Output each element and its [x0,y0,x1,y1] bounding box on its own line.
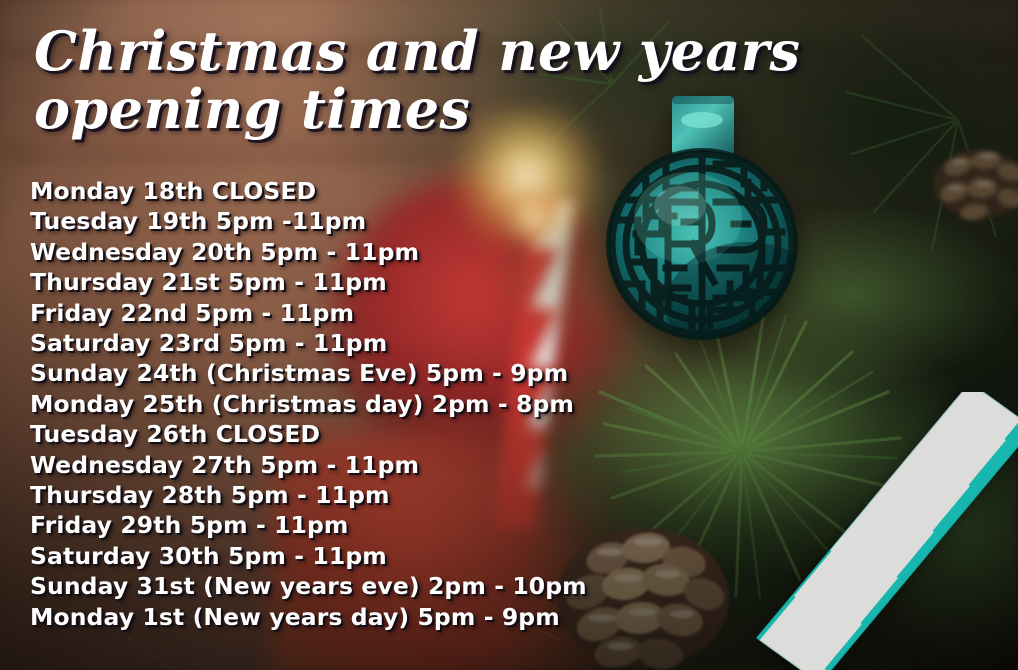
list-item: Thursday 21st 5pm - 11pm [30,267,587,297]
list-item: Monday 1st (New years day) 5pm - 9pm [30,602,587,632]
page-title-line-2: opening times [34,80,674,138]
page-title: Christmas and new years opening times [34,22,674,138]
list-item: Monday 18th CLOSED [30,176,587,206]
list-item: Wednesday 27th 5pm - 11pm [30,450,587,480]
list-item: Sunday 31st (New years eve) 2pm - 10pm [30,571,587,601]
christmas-opening-times-poster: Christmas and new years opening times Mo… [0,0,1018,670]
list-item: Wednesday 20th 5pm - 11pm [30,237,587,267]
poster-content: Christmas and new years opening times Mo… [0,0,1018,670]
opening-times-list: Monday 18th CLOSED Tuesday 19th 5pm -11p… [30,176,587,632]
list-item: Friday 22nd 5pm - 11pm [30,298,587,328]
list-item: Tuesday 26th CLOSED [30,419,587,449]
page-title-line-1: Christmas and new years [34,22,674,80]
list-item: Saturday 23rd 5pm - 11pm [30,328,587,358]
list-item: Tuesday 19th 5pm -11pm [30,206,587,236]
list-item: Monday 25th (Christmas day) 2pm - 8pm [30,389,587,419]
list-item: Saturday 30th 5pm - 11pm [30,541,587,571]
list-item: Friday 29th 5pm - 11pm [30,510,587,540]
list-item: Thursday 28th 5pm - 11pm [30,480,587,510]
list-item: Sunday 24th (Christmas Eve) 5pm - 9pm [30,358,587,388]
